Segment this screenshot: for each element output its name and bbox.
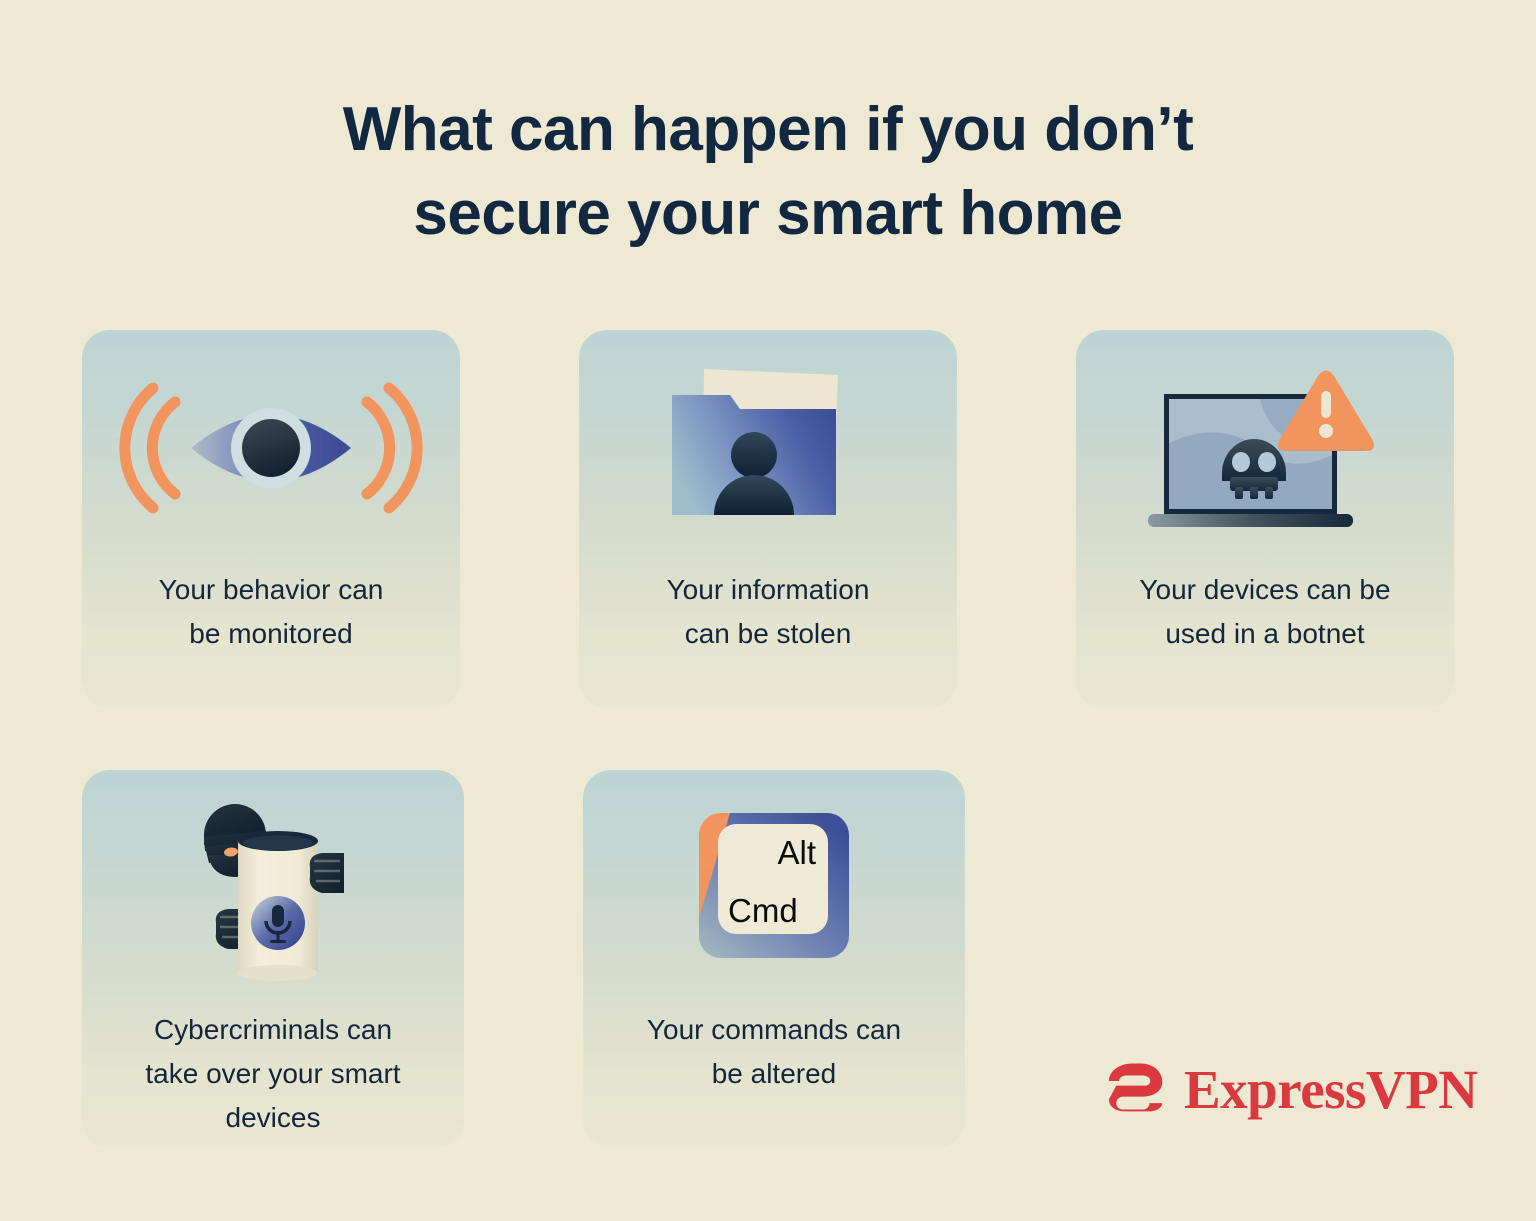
card-label: Cybercriminals can take over your smart … bbox=[113, 1008, 433, 1140]
expressvpn-logo[interactable]: ExpressVPN bbox=[1106, 1058, 1477, 1120]
expressvpn-wordmark: ExpressVPN bbox=[1184, 1062, 1477, 1117]
card-devices-botnet: Your devices can be used in a botnet bbox=[1076, 330, 1454, 708]
card-label-line2: be monitored bbox=[189, 618, 352, 649]
eye-surveillance-icon bbox=[82, 330, 460, 566]
burglar-smart-speaker-icon bbox=[82, 770, 464, 1006]
card-label: Your information can be stolen bbox=[618, 568, 918, 656]
folder-person-icon bbox=[579, 330, 957, 566]
card-label-line2: take over your smart bbox=[145, 1058, 400, 1089]
page-title: What can happen if you don’t secure your… bbox=[0, 88, 1536, 256]
card-row-1: Your behavior can be monitored bbox=[82, 330, 1454, 708]
card-label-line3: devices bbox=[226, 1102, 321, 1133]
card-label-line1: Your commands can bbox=[647, 1014, 901, 1045]
expressvpn-e-mark-icon bbox=[1106, 1058, 1168, 1120]
card-label-line1: Your devices can be bbox=[1139, 574, 1390, 605]
card-label-line1: Your information bbox=[667, 574, 870, 605]
card-label-line2: can be stolen bbox=[685, 618, 852, 649]
keycap-icon: Alt Cmd bbox=[583, 770, 965, 1006]
card-label: Your behavior can be monitored bbox=[121, 568, 421, 656]
card-label-line1: Cybercriminals can bbox=[154, 1014, 392, 1045]
card-label-line2: used in a botnet bbox=[1165, 618, 1364, 649]
card-label: Your commands can be altered bbox=[624, 1008, 924, 1096]
card-cybercriminals-takeover: Cybercriminals can take over your smart … bbox=[82, 770, 464, 1148]
keycap-cmd-label: Cmd bbox=[728, 892, 798, 929]
gloved-hand-right bbox=[310, 853, 344, 893]
card-grid: Your behavior can be monitored bbox=[82, 330, 1454, 1148]
card-label: Your devices can be used in a botnet bbox=[1115, 568, 1415, 656]
card-commands-altered: Alt Cmd Your commands can be altered bbox=[583, 770, 965, 1148]
laptop-skull-warning-icon bbox=[1076, 330, 1454, 566]
keycap-alt-label: Alt bbox=[777, 834, 816, 871]
card-label-line1: Your behavior can bbox=[159, 574, 384, 605]
card-label-line2: be altered bbox=[712, 1058, 837, 1089]
card-information-stolen: Your information can be stolen bbox=[579, 330, 957, 708]
card-behavior-monitored: Your behavior can be monitored bbox=[82, 330, 460, 708]
